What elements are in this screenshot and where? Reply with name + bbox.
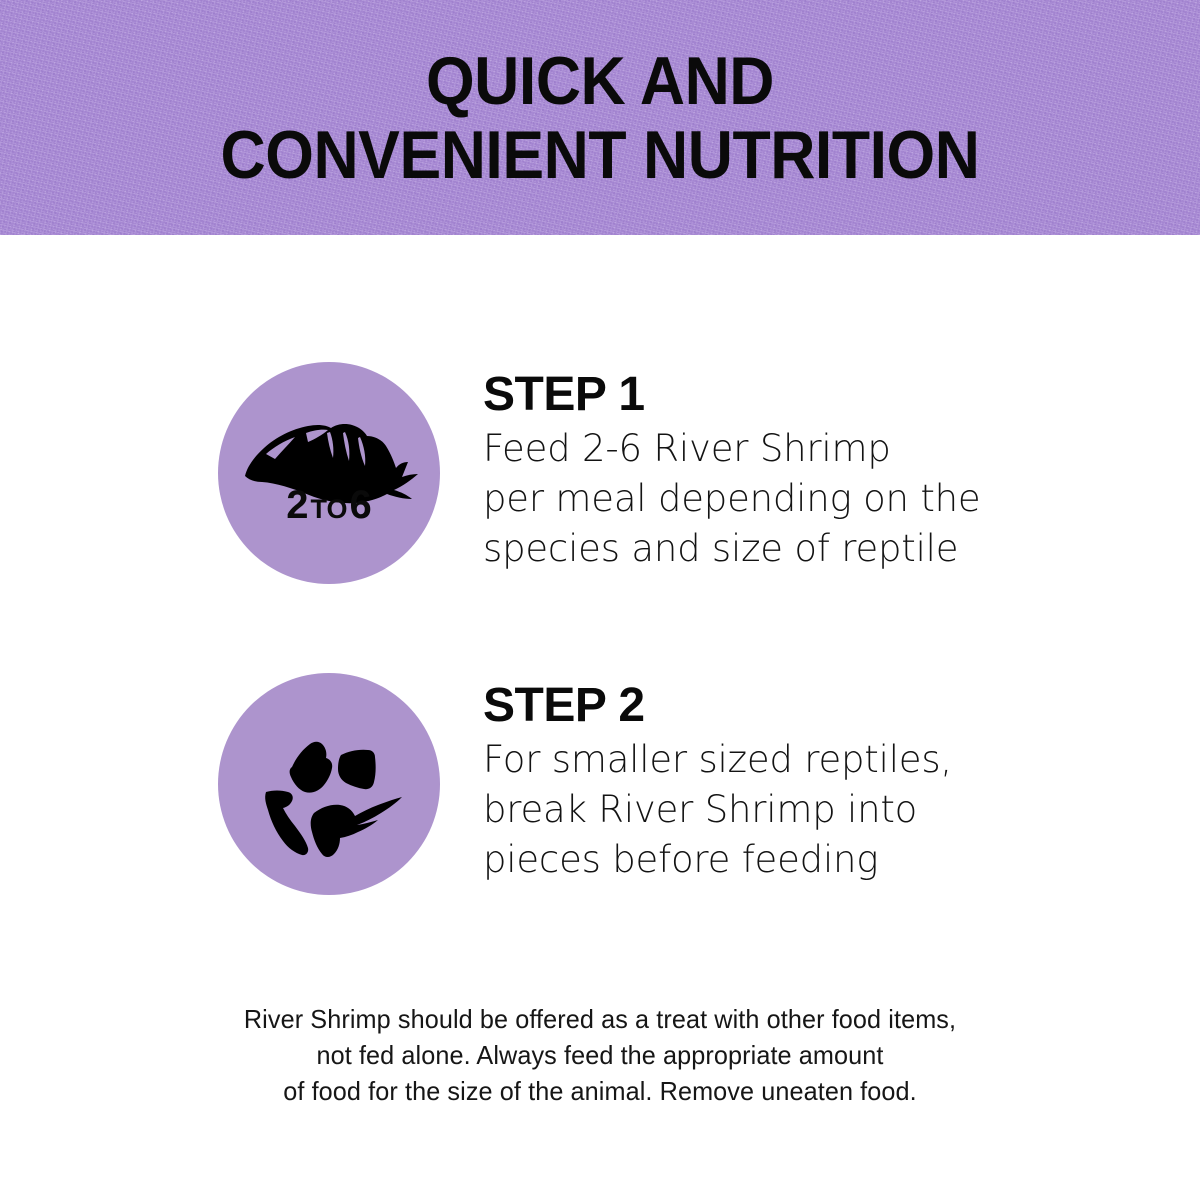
page-title: QUICK AND CONVENIENT NUTRITION bbox=[48, 0, 1152, 192]
step-1-heading: STEP 1 bbox=[483, 368, 980, 422]
count-middle: TO bbox=[308, 494, 349, 524]
header-banner: QUICK AND CONVENIENT NUTRITION bbox=[0, 0, 1200, 235]
count-prefix: 2 bbox=[286, 483, 308, 527]
step-1-text-block: STEP 1 Feed 2-6 River Shrimp per meal de… bbox=[483, 362, 980, 574]
count-suffix: 6 bbox=[350, 483, 372, 527]
step-1-badge: 2TO6 bbox=[218, 362, 440, 584]
footer-disclaimer: River Shrimp should be offered as a trea… bbox=[18, 1001, 1182, 1109]
step-1-count-label: 2TO6 bbox=[218, 483, 440, 531]
step-2-body: For smaller sized reptiles, break River … bbox=[483, 735, 952, 885]
step-2-heading: STEP 2 bbox=[483, 679, 952, 733]
step-item-1: 2TO6 STEP 1 Feed 2-6 River Shrimp per me… bbox=[218, 362, 980, 584]
step-2-text-block: STEP 2 For smaller sized reptiles, break… bbox=[483, 673, 952, 885]
step-item-2: STEP 2 For smaller sized reptiles, break… bbox=[218, 673, 952, 895]
step-1-body: Feed 2-6 River Shrimp per meal depending… bbox=[483, 424, 980, 574]
broken-shrimp-pieces-icon bbox=[218, 673, 440, 895]
step-2-badge bbox=[218, 673, 440, 895]
whole-shrimp-silhouette-icon bbox=[218, 362, 440, 584]
